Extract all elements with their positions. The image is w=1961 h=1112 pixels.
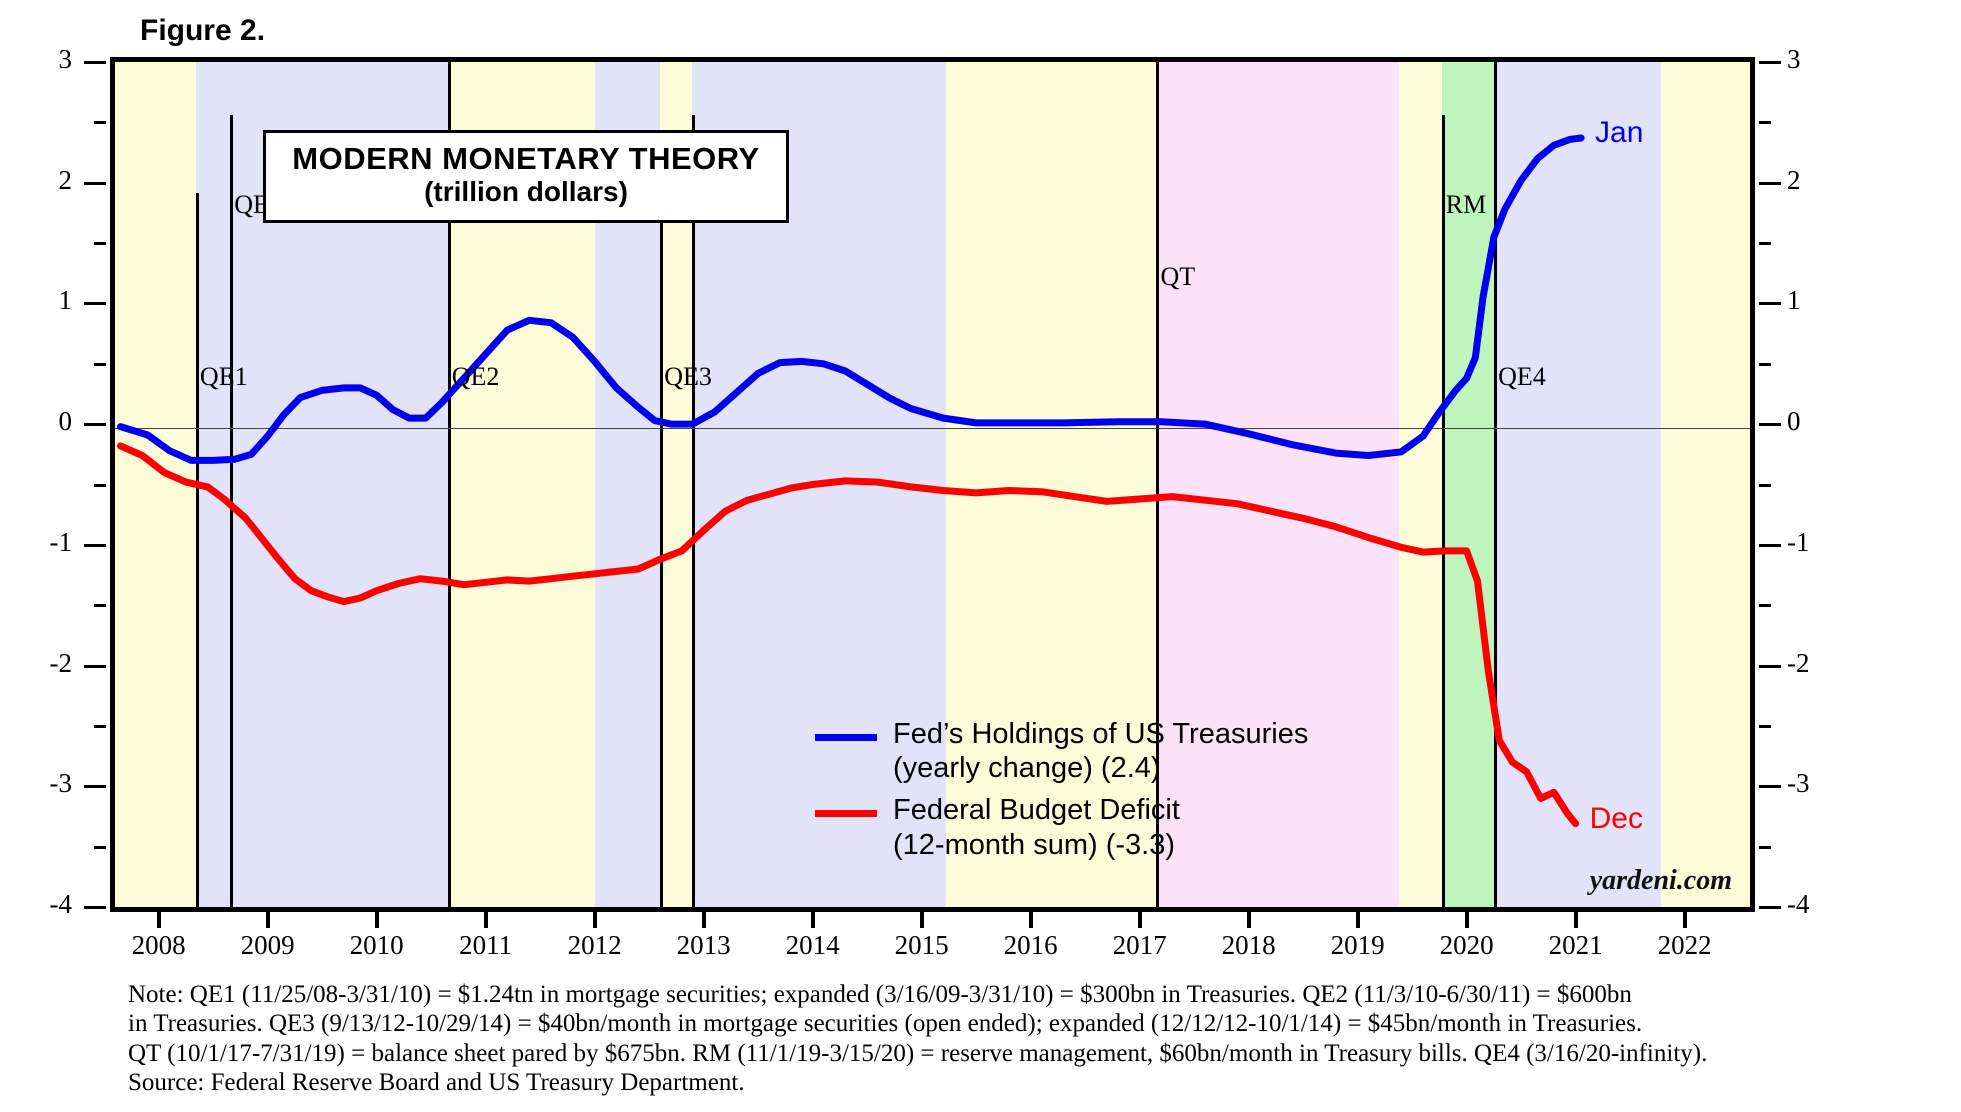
event-label-qe2: QE2 [452,362,500,392]
legend-item-budget-deficit: Federal Budget Deficit (12-month sum) (-… [815,793,1308,861]
xtick-mark-2012 [593,912,597,928]
xtick-mark-2013 [702,912,706,928]
ytick-minor-right [1759,484,1771,487]
watermark: yardeni.com [1590,865,1732,897]
chart-legend: Fed’s Holdings of US Treasuries (yearly … [815,717,1308,870]
footnote-line-1: Note: QE1 (11/25/08-3/31/10) = $1.24tn i… [128,980,1928,1009]
ytick-mark-left-0 [84,423,106,426]
xtick-mark-2008 [157,912,161,928]
xtick-mark-2019 [1356,912,1360,928]
xtick-mark-2022 [1683,912,1687,928]
ytick-mark-right--1 [1759,544,1781,547]
ytick-minor-left [94,604,106,607]
figure-label: Figure 2. [140,14,265,48]
event-label-rm: RM [1446,190,1486,220]
event-label-qt: QT [1160,262,1195,292]
ytick-minor-right [1759,846,1771,849]
ytick-mark-left-1 [84,302,106,305]
ytick-mark-right--2 [1759,665,1781,668]
xtick-label-2010: 2010 [327,930,427,961]
ytick-mark-left-2 [84,182,106,185]
footnote-line-3: QT (10/1/17-7/31/19) = balance sheet par… [128,1039,1928,1068]
ytick-minor-right [1759,121,1771,124]
xtick-label-2019: 2019 [1308,930,1408,961]
ytick-mark-left--4 [84,906,106,909]
xtick-mark-2009 [266,912,270,928]
ytick-label-left-1: 1 [26,285,72,316]
xtick-label-2017: 2017 [1090,930,1190,961]
ytick-label-right-1: 1 [1787,285,1833,316]
ytick-minor-left [94,725,106,728]
xtick-mark-2015 [920,912,924,928]
xtick-label-2008: 2008 [109,930,209,961]
xtick-mark-2020 [1465,912,1469,928]
ytick-label-left--3: -3 [26,768,72,799]
footnote-line-2: in Treasuries. QE3 (9/13/12-10/29/14) = … [128,1009,1928,1038]
event-label-qe4: QE4 [1498,362,1546,392]
ytick-label-right-2: 2 [1787,165,1833,196]
ytick-label-left--1: -1 [26,527,72,558]
ytick-minor-left [94,242,106,245]
ytick-mark-right-2 [1759,182,1781,185]
legend-swatch-fed-holdings [815,734,877,741]
legend-item-fed-holdings: Fed’s Holdings of US Treasuries (yearly … [815,717,1308,785]
ytick-mark-left--2 [84,665,106,668]
xtick-label-2020: 2020 [1417,930,1517,961]
chart-title-box: MODERN MONETARY THEORY (trillion dollars… [263,130,789,223]
xtick-label-2016: 2016 [981,930,1081,961]
legend-label-fed-holdings: Fed’s Holdings of US Treasuries (yearly … [893,717,1308,785]
ytick-minor-right [1759,242,1771,245]
xtick-mark-2010 [375,912,379,928]
ytick-label-right--2: -2 [1787,648,1833,679]
ytick-mark-left-3 [84,61,106,64]
ytick-mark-right--3 [1759,785,1781,788]
chart-title: MODERN MONETARY THEORY [272,143,780,176]
ytick-label-right-0: 0 [1787,406,1833,437]
xtick-label-2021: 2021 [1526,930,1626,961]
xtick-label-2012: 2012 [545,930,645,961]
xtick-label-2015: 2015 [872,930,972,961]
ytick-minor-right [1759,363,1771,366]
ytick-label-left-0: 0 [26,406,72,437]
ytick-label-left--4: -4 [26,889,72,920]
ytick-mark-right-0 [1759,423,1781,426]
ytick-mark-right--4 [1759,906,1781,909]
ytick-minor-left [94,846,106,849]
ytick-label-left-2: 2 [26,165,72,196]
chart-page: Figure 2. MODERN MONETARY THEORY (trilli… [0,0,1961,1112]
ytick-mark-left--3 [84,785,106,788]
ytick-mark-right-1 [1759,302,1781,305]
ytick-label-left--2: -2 [26,648,72,679]
legend-swatch-budget-deficit [815,810,877,817]
xtick-label-2011: 2011 [436,930,536,961]
ytick-minor-right [1759,725,1771,728]
ytick-label-right-3: 3 [1787,44,1833,75]
xtick-label-2022: 2022 [1635,930,1735,961]
event-label-qe3: QE3 [664,362,712,392]
ytick-mark-right-3 [1759,61,1781,64]
ytick-label-right--1: -1 [1787,527,1833,558]
ytick-label-right--3: -3 [1787,768,1833,799]
xtick-mark-2014 [811,912,815,928]
xtick-mark-2018 [1247,912,1251,928]
ytick-minor-left [94,121,106,124]
xtick-label-2013: 2013 [654,930,754,961]
footnote: Note: QE1 (11/25/08-3/31/10) = $1.24tn i… [128,980,1928,1097]
ytick-minor-left [94,363,106,366]
xtick-mark-2017 [1138,912,1142,928]
endpoint-label-blue: Jan [1595,116,1643,150]
xtick-mark-2011 [484,912,488,928]
chart-subtitle: (trillion dollars) [272,176,780,208]
xtick-mark-2016 [1029,912,1033,928]
endpoint-label-red: Dec [1590,802,1643,836]
xtick-mark-2021 [1574,912,1578,928]
xtick-label-2009: 2009 [218,930,318,961]
ytick-minor-right [1759,604,1771,607]
ytick-minor-left [94,484,106,487]
xtick-label-2018: 2018 [1199,930,1299,961]
event-label-qe1: QE1 [200,362,248,392]
ytick-label-left-3: 3 [26,44,72,75]
ytick-mark-left--1 [84,544,106,547]
xtick-label-2014: 2014 [763,930,863,961]
legend-label-budget-deficit: Federal Budget Deficit (12-month sum) (-… [893,793,1180,861]
plot-area: MODERN MONETARY THEORY (trillion dollars… [110,57,1755,912]
footnote-line-4: Source: Federal Reserve Board and US Tre… [128,1068,1928,1097]
ytick-label-right--4: -4 [1787,889,1833,920]
